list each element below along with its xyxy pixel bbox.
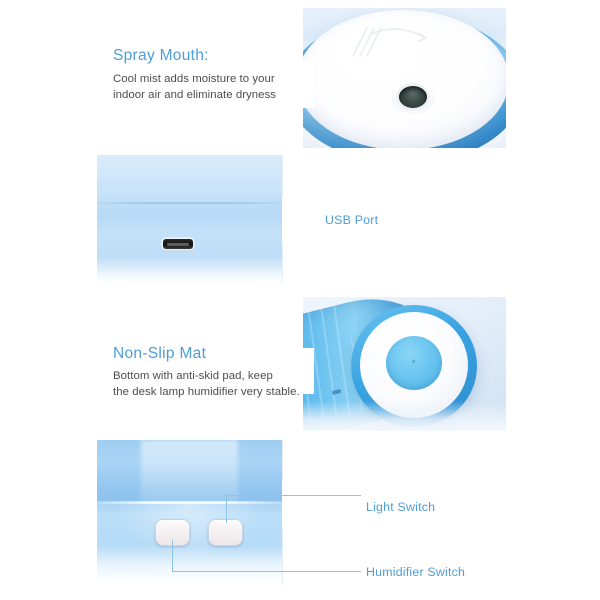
callout-label-usb-port: USB Port <box>325 213 378 227</box>
leader-line-humidifier-switch-vertical <box>172 540 173 572</box>
infographic-page: Spray Mouth: Cool mist adds moisture to … <box>0 0 600 600</box>
base-fade <box>97 257 282 283</box>
photo-usb-port <box>97 155 282 283</box>
photo-spray-mouth <box>303 8 506 148</box>
leader-line-light-switch-horizontal <box>226 495 361 496</box>
micro-usb-port <box>163 239 193 249</box>
panel-edge <box>282 527 283 585</box>
anti-skid-pad <box>386 336 442 390</box>
body-seam-line <box>97 202 282 204</box>
feature-heading-spray-mouth: Spray Mouth: <box>113 47 209 65</box>
base-fade <box>97 545 282 585</box>
chevron-right-icon <box>282 481 302 527</box>
feature-description-spray-mouth: Cool mist adds moisture to your indoor a… <box>113 72 303 103</box>
panel-edge <box>282 242 283 283</box>
panel-edge <box>282 440 283 482</box>
photo-switches <box>97 440 282 585</box>
body-highlight <box>97 155 282 203</box>
description-line: Cool mist adds moisture to your <box>113 72 303 88</box>
panel-edge <box>282 155 283 197</box>
upper-body-glow <box>141 440 237 502</box>
photo-non-slip-mat <box>303 297 506 431</box>
leader-line-humidifier-switch-horizontal <box>172 571 361 572</box>
mist-emboss-icon <box>347 22 437 62</box>
floor-fade <box>303 401 506 431</box>
callout-label-humidifier-switch: Humidifier Switch <box>366 565 465 579</box>
feature-heading-non-slip-mat: Non-Slip Mat <box>113 345 206 363</box>
chevron-right-icon <box>282 196 302 242</box>
description-line: indoor air and eliminate dryness <box>113 88 303 104</box>
description-line: the desk lamp humidifier very stable. <box>113 385 313 401</box>
leader-line-light-switch-vertical <box>226 495 227 523</box>
spray-nozzle-hole <box>399 86 427 108</box>
description-line: Bottom with anti-skid pad, keep <box>113 369 313 385</box>
light-switch-button[interactable] <box>208 519 243 546</box>
callout-label-light-switch: Light Switch <box>366 500 435 514</box>
feature-description-non-slip-mat: Bottom with anti-skid pad, keep the desk… <box>113 369 313 400</box>
